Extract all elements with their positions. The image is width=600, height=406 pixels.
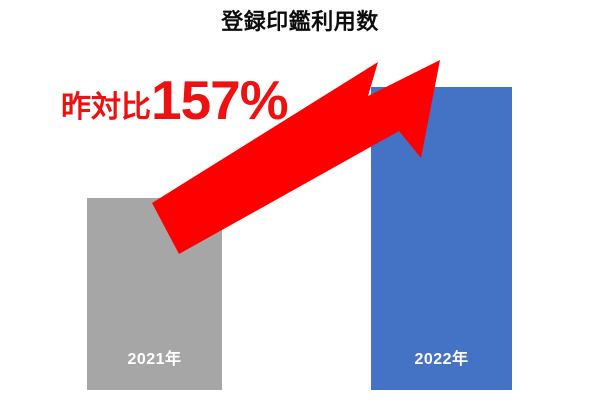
bar-2022: 2022年 xyxy=(371,87,512,390)
growth-callout: 昨対比 157% xyxy=(61,73,288,128)
slide-canvas: 登録印鑑利用数 2021年 2022年 昨対比 157% xyxy=(0,0,600,406)
bar-label-2021: 2021年 xyxy=(87,345,222,369)
page-title: 登録印鑑利用数 xyxy=(0,9,600,35)
growth-callout-prefix: 昨対比 xyxy=(61,93,151,123)
bar-2021: 2021年 xyxy=(87,198,222,390)
growth-callout-value: 157% xyxy=(151,73,288,128)
bar-label-2022: 2022年 xyxy=(371,345,512,369)
